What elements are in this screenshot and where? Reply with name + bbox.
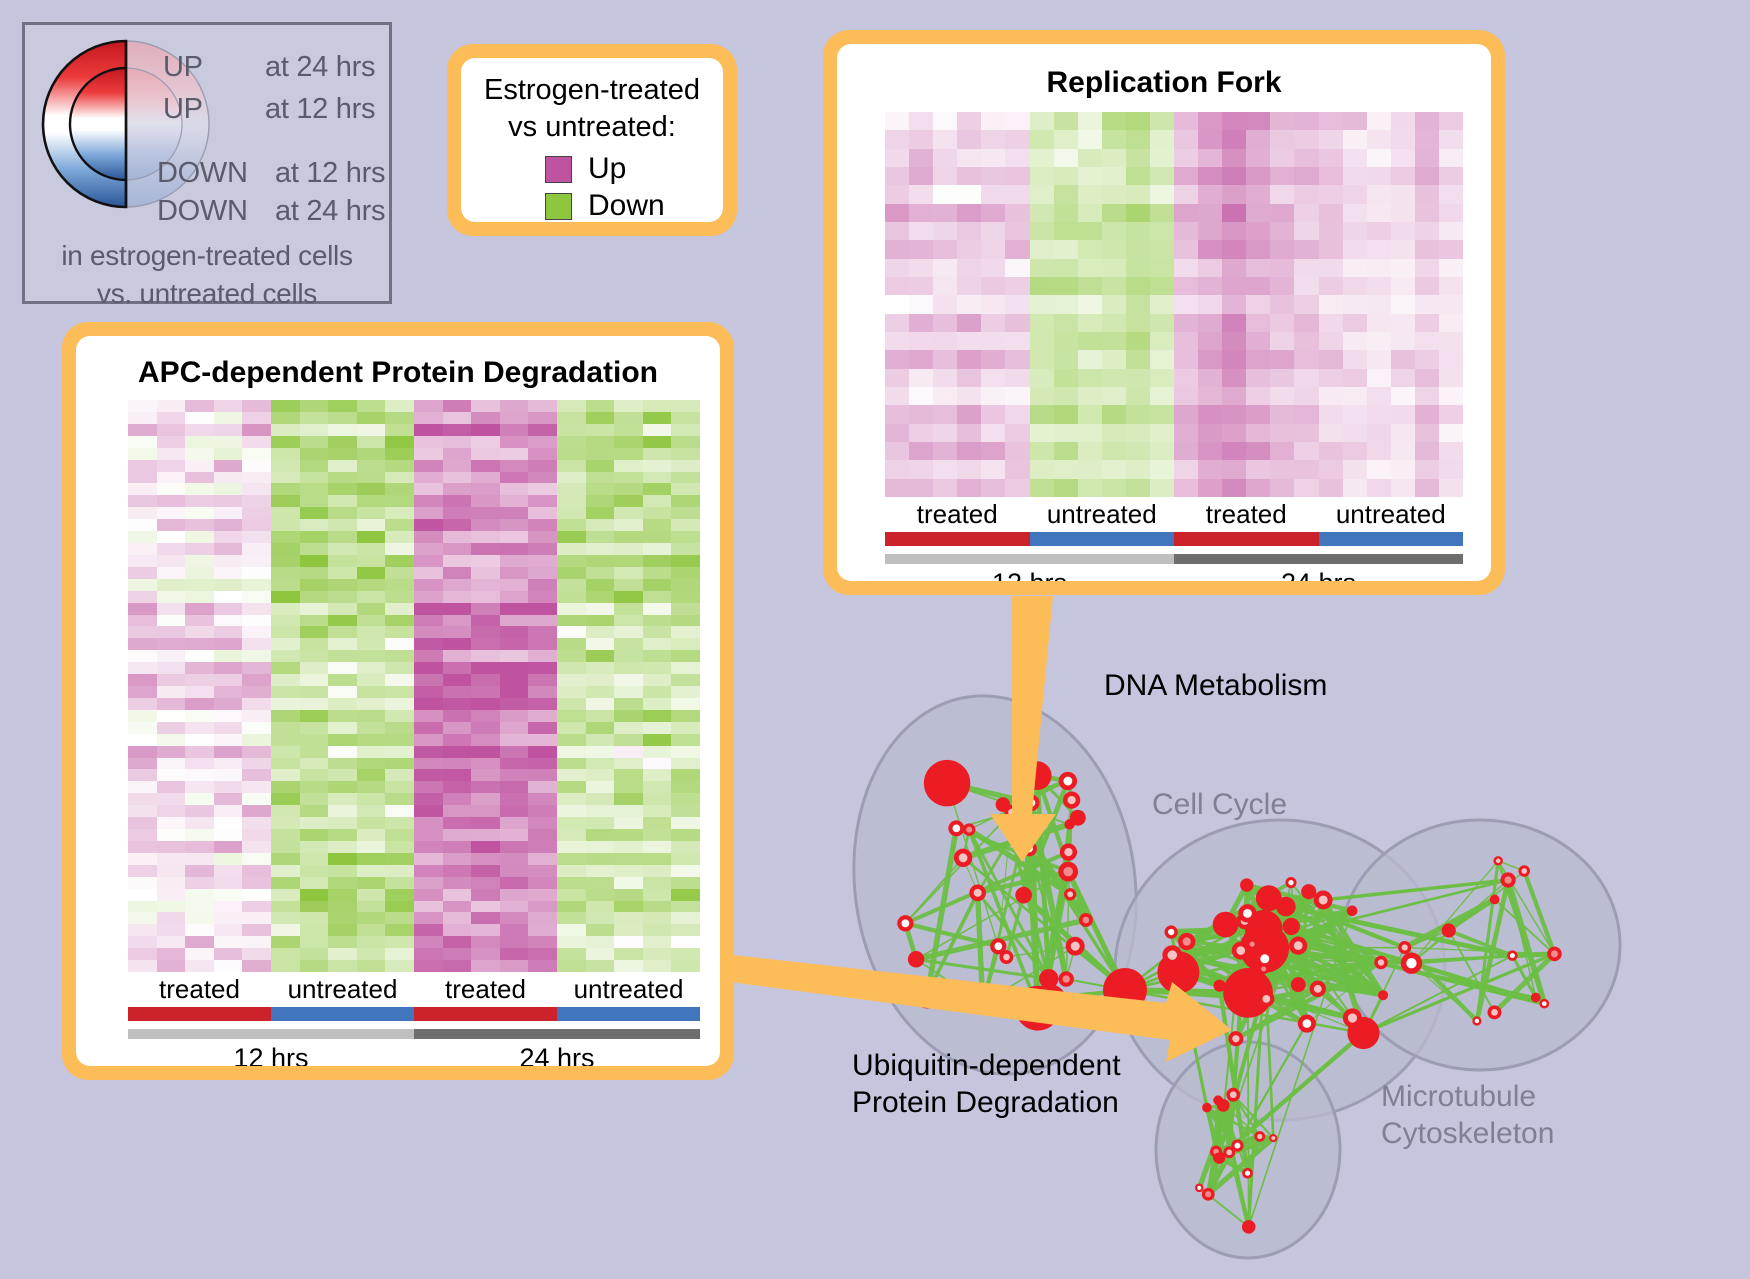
heatmap-cell	[157, 507, 186, 519]
heatmap-cell	[242, 567, 271, 579]
heatmap-cell	[328, 638, 357, 650]
heatmap-cell	[1246, 204, 1270, 222]
heatmap-cell	[242, 722, 271, 734]
heatmap-cell	[614, 746, 643, 758]
heatmap-cell	[643, 448, 672, 460]
network-node-core	[1020, 891, 1028, 899]
heatmap-cell	[1391, 332, 1415, 350]
heatmap-cell	[981, 332, 1005, 350]
heatmap-cell	[300, 889, 329, 901]
heatmap-cell	[414, 460, 443, 472]
heatmap-cell	[1222, 314, 1246, 332]
heatmap-cell	[471, 769, 500, 781]
heatmap-cell	[443, 531, 472, 543]
heatmap-cell	[1343, 130, 1367, 148]
panel-apc-dependent-protein-degradation: APC-dependent Protein Degradation treate…	[62, 322, 734, 1080]
heatmap-cell	[157, 960, 186, 972]
heatmap-cell	[1391, 204, 1415, 222]
heatmap-cell	[1005, 112, 1029, 130]
heatmap-cell	[271, 698, 300, 710]
heatmap-cell	[957, 130, 981, 148]
heatmap-cell	[1294, 405, 1318, 423]
color-key-footer-line1: in estrogen-treated cells	[25, 237, 389, 275]
heatmap-cell	[242, 936, 271, 948]
heatmap-cell	[586, 734, 615, 746]
sample-group-label: untreated	[1319, 499, 1464, 530]
network-node-core	[1168, 929, 1174, 935]
heatmap-cell	[214, 483, 243, 495]
heatmap-cell	[471, 829, 500, 841]
heatmap-cell	[271, 758, 300, 770]
heatmap-cell	[1294, 442, 1318, 460]
heatmap-cell	[185, 722, 214, 734]
heatmap-cell	[885, 350, 909, 368]
heatmap-cell	[1319, 204, 1343, 222]
network-node-core	[1183, 937, 1191, 945]
heatmap-cell	[157, 472, 186, 484]
heatmap-cell	[185, 710, 214, 722]
heatmap-cell	[1294, 479, 1318, 497]
heatmap-cell	[1222, 112, 1246, 130]
heatmap-cell	[1030, 314, 1054, 332]
heatmap-cell	[1030, 350, 1054, 368]
heatmap-cell	[614, 853, 643, 865]
heatmap-cell	[300, 579, 329, 591]
heatmap-cell	[614, 626, 643, 638]
heatmap-cell	[557, 531, 586, 543]
heatmap-cell	[300, 436, 329, 448]
heatmap-cell	[528, 769, 557, 781]
heatmap-cell	[671, 734, 700, 746]
heatmap-cell	[1005, 259, 1029, 277]
heatmap-cell	[214, 722, 243, 734]
heatmap-cell	[214, 805, 243, 817]
heatmap-cell	[528, 674, 557, 686]
heatmap-cell	[271, 400, 300, 412]
heatmap-cell	[385, 889, 414, 901]
heatmap-cell	[614, 817, 643, 829]
network-node-core	[1378, 959, 1384, 965]
heatmap-cell	[671, 674, 700, 686]
heatmap-cell	[671, 960, 700, 972]
heatmap-cell	[981, 130, 1005, 148]
heatmap-cell	[614, 912, 643, 924]
heatmap-cell	[357, 829, 386, 841]
heatmap-cell	[1415, 130, 1439, 148]
heatmap-cell	[300, 424, 329, 436]
heatmap-cell	[443, 591, 472, 603]
heatmap-cell	[157, 734, 186, 746]
network-node-core	[1271, 1136, 1275, 1140]
heatmap-cell	[909, 314, 933, 332]
heatmap-cell	[1415, 314, 1439, 332]
heatmap-cell	[500, 805, 529, 817]
heatmap-cell	[128, 615, 157, 627]
heatmap-cell	[242, 758, 271, 770]
heatmap-cell	[586, 853, 615, 865]
heatmap-cell	[671, 865, 700, 877]
heatmap-cell	[128, 603, 157, 615]
heatmap-cell	[128, 638, 157, 650]
network-node-core	[1260, 954, 1269, 963]
heatmap-cell	[1078, 240, 1102, 258]
heatmap-cell	[185, 638, 214, 650]
heatmap-cell	[614, 543, 643, 555]
heatmap-cell	[443, 936, 472, 948]
heatmap-cell	[1078, 387, 1102, 405]
heatmap-cell	[933, 222, 957, 240]
heatmap-cell	[1030, 424, 1054, 442]
heatmap-cell	[271, 448, 300, 460]
network-node-core	[1245, 1171, 1250, 1176]
heatmap-cell	[300, 626, 329, 638]
heatmap-cell	[385, 424, 414, 436]
heatmap-cell	[271, 483, 300, 495]
heatmap-cell	[242, 638, 271, 650]
heatmap-cell	[357, 734, 386, 746]
heatmap-cell	[357, 853, 386, 865]
heatmap-cell	[214, 769, 243, 781]
heatmap-cell	[357, 626, 386, 638]
heatmap-cell	[1439, 259, 1463, 277]
heatmap-cell	[586, 865, 615, 877]
heatmap-cell	[671, 758, 700, 770]
heatmap-cell	[414, 936, 443, 948]
heatmap-cell	[1030, 185, 1054, 203]
heatmap-cell	[909, 240, 933, 258]
sample-group-label: treated	[128, 974, 271, 1005]
heatmap-cell	[1439, 222, 1463, 240]
heatmap-cell	[500, 662, 529, 674]
heatmap-cell	[128, 698, 157, 710]
heatmap-cell	[242, 734, 271, 746]
heatmap-cell	[385, 412, 414, 424]
heatmap-cell	[1078, 149, 1102, 167]
heatmap-cell	[586, 889, 615, 901]
heatmap-cell	[385, 555, 414, 567]
heatmap-cell	[471, 924, 500, 936]
heatmap-cell	[357, 591, 386, 603]
heatmap-cell	[471, 841, 500, 853]
heatmap-cell	[128, 912, 157, 924]
heatmap-cell	[1415, 204, 1439, 222]
heatmap-cell	[981, 442, 1005, 460]
heatmap-cell	[214, 400, 243, 412]
heatmap-cell	[1102, 295, 1126, 313]
heatmap-cell	[500, 889, 529, 901]
heatmap-cell	[643, 519, 672, 531]
heatmap-cell	[614, 662, 643, 674]
heatmap-cell	[586, 936, 615, 948]
heatmap-cell	[357, 424, 386, 436]
heatmap-cell	[500, 793, 529, 805]
sample-group-segment	[885, 532, 1030, 546]
heatmap-cell	[1270, 149, 1294, 167]
heatmap-cell	[1415, 387, 1439, 405]
heatmap-cell	[357, 841, 386, 853]
heatmap-cell	[557, 841, 586, 853]
heatmap-cell	[1054, 479, 1078, 497]
heatmap-cell	[300, 531, 329, 543]
heatmap-cell	[357, 412, 386, 424]
heatmap-cell	[909, 405, 933, 423]
heatmap-cell	[471, 615, 500, 627]
heatmap-cell	[643, 412, 672, 424]
heatmap-cell	[157, 793, 186, 805]
heatmap-cell	[271, 579, 300, 591]
heatmap-cell	[557, 567, 586, 579]
heatmap-cell	[157, 519, 186, 531]
heatmap-cell	[528, 698, 557, 710]
heatmap-cell	[1294, 314, 1318, 332]
heatmap-cell	[557, 829, 586, 841]
heatmap-cell	[1005, 185, 1029, 203]
heatmap-cell	[271, 817, 300, 829]
heatmap-cell	[557, 448, 586, 460]
heatmap-cell	[1319, 112, 1343, 130]
heatmap-cell	[614, 507, 643, 519]
heatmap-cell	[1319, 479, 1343, 497]
heatmap-cell	[185, 555, 214, 567]
heatmap-cell	[157, 829, 186, 841]
heatmap-cell	[128, 424, 157, 436]
heatmap-cell	[1319, 259, 1343, 277]
heatmap-cell	[443, 948, 472, 960]
heatmap-cell	[185, 543, 214, 555]
heatmap-cell	[157, 650, 186, 662]
heatmap-cell	[1222, 185, 1246, 203]
heatmap-cell	[557, 710, 586, 722]
heatmap-cell	[271, 781, 300, 793]
heatmap-cell	[242, 531, 271, 543]
heatmap-cell	[242, 865, 271, 877]
legend-title-line1: Estrogen-treated	[461, 72, 723, 109]
heatmap-cell	[385, 746, 414, 758]
heatmap-cell	[643, 483, 672, 495]
heatmap-cell	[1391, 130, 1415, 148]
heatmap-cell	[300, 817, 329, 829]
heatmap-cell	[557, 746, 586, 758]
heatmap-cell	[1343, 460, 1367, 478]
heatmap-cell	[328, 817, 357, 829]
heatmap-cell	[557, 626, 586, 638]
heatmap-cell	[500, 769, 529, 781]
heatmap-cell	[671, 615, 700, 627]
heatmap-cell	[157, 877, 186, 889]
heatmap-cell	[671, 769, 700, 781]
heatmap-cell	[933, 204, 957, 222]
color-key-time-3: at 24 hrs	[275, 195, 385, 228]
network-node-core	[1063, 777, 1072, 786]
heatmap-cell	[1294, 130, 1318, 148]
heatmap-cell	[614, 877, 643, 889]
heatmap-cell	[185, 662, 214, 674]
color-key-footer-line2: vs. untreated cells	[25, 275, 389, 313]
heatmap-cell	[385, 924, 414, 936]
heatmap-cell	[981, 204, 1005, 222]
heatmap-cell	[328, 543, 357, 555]
heatmap-cell	[528, 507, 557, 519]
heatmap-cell	[528, 460, 557, 472]
heatmap-cell	[586, 448, 615, 460]
heatmap-cell	[586, 638, 615, 650]
heatmap-cell	[414, 734, 443, 746]
heatmap-cell	[443, 424, 472, 436]
heatmap-cell	[300, 686, 329, 698]
heatmap-cell	[909, 185, 933, 203]
legend-label-up: Up	[588, 152, 626, 186]
sample-group-label: treated	[1174, 499, 1319, 530]
heatmap-cell	[328, 710, 357, 722]
heatmap-cell	[614, 698, 643, 710]
heatmap-cell	[357, 650, 386, 662]
heatmap-cell	[271, 626, 300, 638]
heatmap-cell	[443, 472, 472, 484]
heatmap-cell	[1102, 479, 1126, 497]
heatmap-cell	[185, 424, 214, 436]
heatmap-cell	[1319, 130, 1343, 148]
heatmap-cell	[471, 638, 500, 650]
heatmap-cell	[957, 112, 981, 130]
sample-group-segment	[1174, 532, 1319, 546]
heatmap-cell	[1222, 240, 1246, 258]
heatmap-cell	[300, 674, 329, 686]
heatmap-cell	[328, 460, 357, 472]
heatmap-cell	[557, 591, 586, 603]
heatmap-cell	[957, 277, 981, 295]
heatmap-cell	[643, 626, 672, 638]
heatmap-cell	[1054, 405, 1078, 423]
heatmap-cell	[500, 638, 529, 650]
heatmap-cell	[671, 567, 700, 579]
heatmap-cell	[328, 436, 357, 448]
heatmap-cell	[1415, 167, 1439, 185]
network-node-core	[912, 955, 920, 963]
heatmap-cell	[128, 555, 157, 567]
heatmap-cell	[271, 901, 300, 913]
heatmap-cell	[1078, 259, 1102, 277]
heatmap-cell	[1319, 460, 1343, 478]
network-node-core	[1350, 908, 1355, 913]
heatmap-cell	[471, 746, 500, 758]
heatmap-cell	[557, 722, 586, 734]
heatmap-cell	[1102, 130, 1126, 148]
heatmap-cell	[357, 769, 386, 781]
heatmap-cell	[214, 519, 243, 531]
heatmap-cell	[1415, 460, 1439, 478]
heatmap-cell	[500, 400, 529, 412]
heatmap-cell	[1270, 167, 1294, 185]
heatmap-cell	[557, 555, 586, 567]
heatmap-cell	[981, 479, 1005, 497]
heatmap-cell	[271, 841, 300, 853]
timepoint-label: 24 hrs	[1174, 568, 1463, 581]
heatmap-cell	[271, 543, 300, 555]
network-node-core	[1234, 1143, 1240, 1149]
heatmap-cell	[128, 710, 157, 722]
heatmap-cell	[1222, 479, 1246, 497]
heatmap-cell	[671, 829, 700, 841]
heatmap-cell	[157, 424, 186, 436]
heatmap-cell	[214, 603, 243, 615]
heatmap-cell	[557, 483, 586, 495]
heatmap-cell	[1270, 442, 1294, 460]
heatmap-cell	[128, 722, 157, 734]
heatmap-cell	[557, 865, 586, 877]
heatmap-cell	[586, 460, 615, 472]
heatmap-cell	[242, 817, 271, 829]
heatmap-cell	[671, 877, 700, 889]
heatmap-cell	[328, 615, 357, 627]
heatmap-cell	[1270, 204, 1294, 222]
heatmap-cell	[157, 805, 186, 817]
heatmap-cell	[557, 805, 586, 817]
heatmap-cell	[1319, 332, 1343, 350]
heatmap-cell	[385, 460, 414, 472]
heatmap-cell	[1198, 369, 1222, 387]
heatmap-cell	[500, 853, 529, 865]
sample-group-segment	[1030, 532, 1175, 546]
heatmap-cell	[328, 472, 357, 484]
heatmap-cell	[157, 865, 186, 877]
heatmap-cell	[357, 638, 386, 650]
heatmap-cell	[1367, 442, 1391, 460]
timepoint-segment	[885, 554, 1174, 564]
heatmap-cell	[1294, 369, 1318, 387]
heatmap-cell	[671, 686, 700, 698]
heatmap-cell	[1198, 332, 1222, 350]
heatmap-cell	[500, 841, 529, 853]
heatmap-cell	[557, 400, 586, 412]
heatmap-cell	[242, 924, 271, 936]
heatmap-cell	[1102, 405, 1126, 423]
heatmap-cell	[1246, 240, 1270, 258]
heatmap-cell	[933, 240, 957, 258]
heatmap-cell	[643, 865, 672, 877]
heatmap-cell	[586, 710, 615, 722]
heatmap-cell	[1054, 424, 1078, 442]
heatmap-cell	[1222, 387, 1246, 405]
network-node-core	[1236, 946, 1245, 955]
heatmap-cell	[1005, 424, 1029, 442]
heatmap-cell	[586, 662, 615, 674]
heatmap-cell	[909, 387, 933, 405]
heatmap-cell	[1030, 112, 1054, 130]
heatmap-cell	[357, 960, 386, 972]
heatmap-cell	[981, 314, 1005, 332]
heatmap-cell	[1246, 405, 1270, 423]
heatmap-cell	[443, 912, 472, 924]
network-node-core	[1027, 799, 1035, 807]
heatmap-cell	[557, 817, 586, 829]
network-node-core	[1262, 995, 1270, 1003]
heatmap-cell	[328, 555, 357, 567]
heatmap-cell	[443, 603, 472, 615]
heatmap-cell	[528, 841, 557, 853]
legend-item-down: Down	[545, 189, 665, 222]
heatmap-cell	[528, 686, 557, 698]
heatmap-cell	[357, 507, 386, 519]
heatmap-cell	[385, 877, 414, 889]
heatmap-cell	[671, 424, 700, 436]
heatmap-cell	[1222, 204, 1246, 222]
heatmap-cell	[242, 412, 271, 424]
sample-group-labels-apc: treateduntreatedtreateduntreated	[128, 974, 700, 1005]
heatmap-cell	[1198, 314, 1222, 332]
heatmap-cell	[1367, 387, 1391, 405]
heatmap-cell	[1054, 387, 1078, 405]
heatmap-cell	[528, 781, 557, 793]
